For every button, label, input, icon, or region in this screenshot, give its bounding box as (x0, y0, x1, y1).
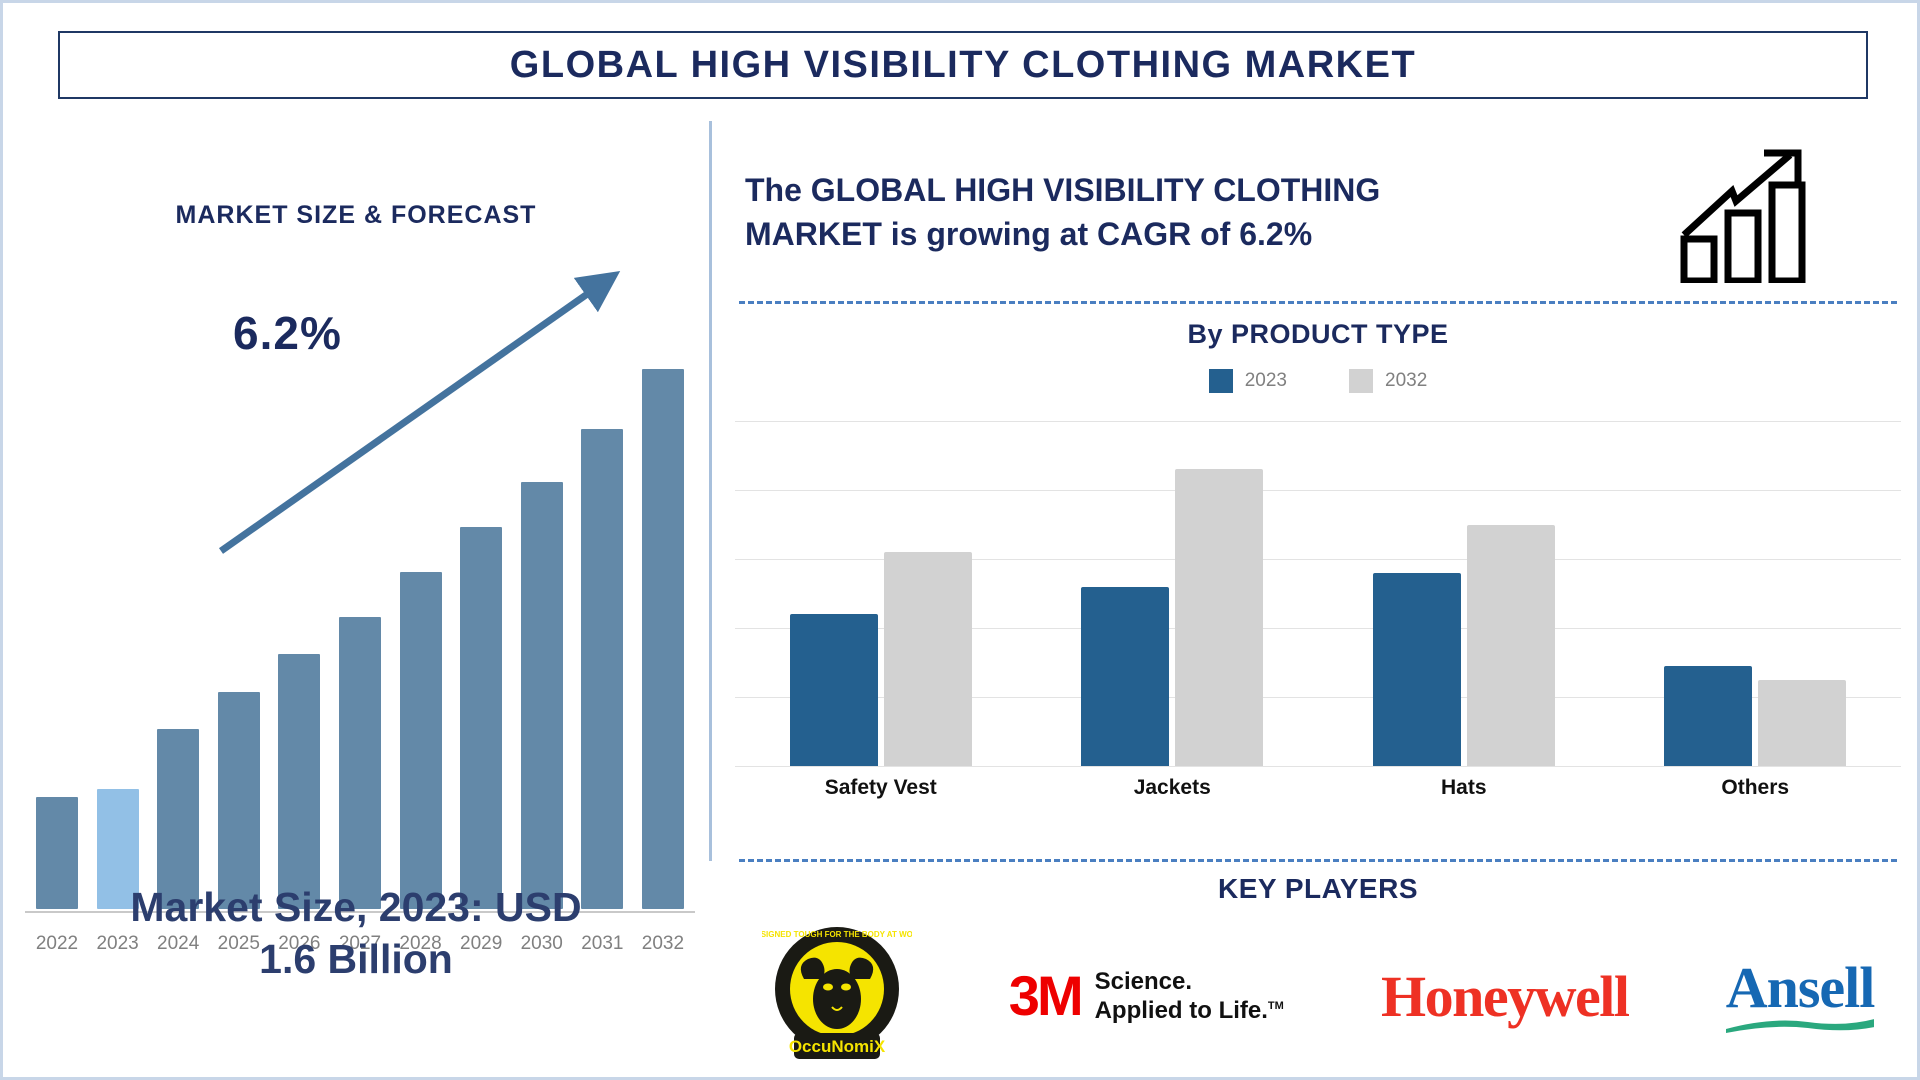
logo-occunomix: DESIGNED TOUGH FOR THE BODY AT WORK Occu… (762, 921, 912, 1071)
3m-trademark-mark: TM (1268, 1000, 1284, 1012)
cagr-statement-line-2: MARKET is growing at CAGR of 6.2% (745, 213, 1675, 257)
legend-label: 2032 (1385, 370, 1427, 392)
forecast-bars (25, 309, 695, 909)
logo-honeywell: Honeywell (1381, 963, 1628, 1030)
legend-entry[interactable]: 2023 (1209, 369, 1287, 393)
legend-label: 2023 (1245, 370, 1287, 392)
product-type-category-label: Hats (1336, 776, 1591, 800)
product-type-group (1628, 421, 1883, 766)
forecast-bar (521, 482, 563, 910)
product-type-bar (1758, 680, 1846, 766)
page-title: GLOBAL HIGH VISIBILITY CLOTHING MARKET (510, 44, 1416, 87)
forecast-bar-slot (516, 309, 568, 909)
3m-tagline-line-2: Applied to Life. (1095, 997, 1268, 1024)
legend-entry[interactable]: 2032 (1349, 369, 1427, 393)
forecast-bar-slot (31, 309, 83, 909)
header-title-box: GLOBAL HIGH VISIBILITY CLOTHING MARKET (58, 31, 1868, 99)
product-type-group (1336, 421, 1591, 766)
forecast-bar-slot (213, 309, 265, 909)
key-players-title: KEY PLAYERS (713, 873, 1920, 905)
logo-ansell: Ansell (1726, 959, 1875, 1033)
svg-text:DESIGNED TOUGH FOR THE BODY AT: DESIGNED TOUGH FOR THE BODY AT WORK (762, 930, 912, 939)
forecast-bar-slot (576, 309, 628, 909)
product-type-group (753, 421, 1008, 766)
forecast-bar-slot (395, 309, 447, 909)
product-type-bar (1467, 525, 1555, 767)
forecast-bar (581, 429, 623, 909)
infographic-page: GLOBAL HIGH VISIBILITY CLOTHING MARKET M… (0, 0, 1920, 1080)
divider-top (739, 301, 1897, 304)
market-size-note: Market Size, 2023: USD 1.6 Billion (3, 881, 709, 986)
product-type-bar (1081, 587, 1169, 766)
bar-chart-growth-arrow-icon (1678, 143, 1818, 283)
forecast-bar-slot (637, 309, 689, 909)
vertical-divider (709, 121, 712, 861)
product-type-legend: 20232032 (713, 369, 1920, 393)
product-type-bar (1664, 666, 1752, 766)
forecast-bar-slot (273, 309, 325, 909)
right-panel: The GLOBAL HIGH VISIBILITY CLOTHING MARK… (713, 121, 1920, 1071)
forecast-bar (278, 654, 320, 909)
forecast-bar-slot (334, 309, 386, 909)
divider-bottom (739, 859, 1897, 862)
product-type-bar (1373, 573, 1461, 766)
product-type-category-label: Others (1628, 776, 1883, 800)
market-size-line-1: Market Size, 2023: USD (3, 881, 709, 933)
forecast-bar-slot (152, 309, 204, 909)
product-type-category-label: Safety Vest (753, 776, 1008, 800)
product-type-group (1045, 421, 1300, 766)
product-type-bars (735, 421, 1901, 766)
logo-3m: 3M Science. Applied to Life.TM (1009, 967, 1284, 1026)
forecast-bar-slot (92, 309, 144, 909)
3m-tagline: Science. Applied to Life.TM (1095, 967, 1284, 1026)
product-type-category-label: Jackets (1045, 776, 1300, 800)
forecast-bar (460, 527, 502, 910)
product-type-chart (735, 421, 1901, 766)
forecast-bar (218, 692, 260, 910)
ansell-wordmark: Ansell (1726, 959, 1875, 1017)
cagr-statement-line-1: The GLOBAL HIGH VISIBILITY CLOTHING (745, 169, 1675, 213)
3m-tagline-line-1: Science. (1095, 968, 1192, 995)
product-type-section-title: By PRODUCT TYPE (713, 319, 1920, 350)
gridline (735, 766, 1901, 767)
occunomix-wordmark: OccuNomiX (788, 1037, 885, 1056)
left-panel: MARKET SIZE & FORECAST 6.2% 202220232024… (3, 121, 709, 1061)
legend-swatch-icon (1349, 369, 1373, 393)
product-type-category-labels: Safety VestJacketsHatsOthers (735, 776, 1901, 800)
market-size-line-2: 1.6 Billion (3, 933, 709, 985)
key-players-logos: DESIGNED TOUGH FOR THE BODY AT WORK Occu… (713, 921, 1920, 1071)
product-type-bar (884, 552, 972, 766)
forecast-bar (339, 617, 381, 910)
forecast-bar (642, 369, 684, 909)
3m-wordmark: 3M (1009, 968, 1081, 1024)
ansell-swoosh-icon (1726, 1017, 1875, 1033)
legend-swatch-icon (1209, 369, 1233, 393)
market-size-forecast-chart: 2022202320242025202620272028202920302031… (25, 281, 695, 971)
product-type-bar (1175, 469, 1263, 766)
cagr-statement: The GLOBAL HIGH VISIBILITY CLOTHING MARK… (745, 169, 1675, 256)
forecast-bar (400, 572, 442, 910)
product-type-bar (790, 614, 878, 766)
market-size-forecast-title: MARKET SIZE & FORECAST (3, 201, 709, 230)
forecast-bar-slot (455, 309, 507, 909)
